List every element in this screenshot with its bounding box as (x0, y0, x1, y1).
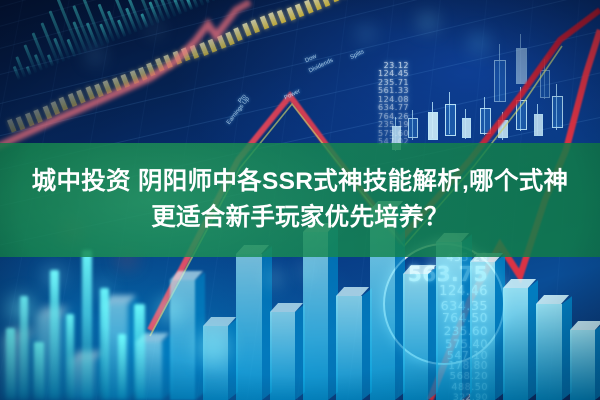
bar-face (503, 288, 528, 400)
dash-tick (251, 19, 261, 33)
title-line-2: 更适合新手玩家优先培养？ (151, 200, 449, 236)
dash-tick (208, 39, 218, 53)
title-block: 城中投资 阴阳师中各SSR式神技能解析,哪个式神 更适合新手玩家优先培养？ (0, 143, 600, 257)
candlestick (462, 118, 469, 136)
candle-body (480, 108, 491, 134)
dash-tick (190, 45, 200, 59)
candlestick (516, 48, 525, 82)
candlestick (408, 118, 416, 136)
bokeh-blob (470, 34, 488, 52)
glow-bar (6, 328, 15, 400)
bar-chart-bar (270, 312, 295, 400)
dash-tick (268, 12, 278, 26)
dash-tick (242, 23, 252, 37)
dash-tick (25, 113, 35, 127)
bar-face (470, 262, 495, 400)
bokeh-blob (420, 14, 436, 30)
dash-tick (304, 0, 314, 14)
stock-market-banner: 23.12124.45235.71561.33124.08634.77764.2… (0, 0, 600, 400)
bar-face (536, 304, 561, 400)
dash-tick (59, 97, 69, 111)
dash-tick (42, 106, 52, 120)
bar-chart-bar (403, 274, 428, 400)
dash-tick (313, 0, 323, 11)
bokeh-blob (160, 300, 180, 320)
bar-chart-bar (470, 262, 495, 400)
bar-face (336, 296, 361, 400)
candlestick (552, 96, 561, 126)
candle-body (445, 104, 456, 136)
candle-body (552, 96, 563, 128)
bokeh-blob (360, 28, 372, 40)
dash-tick (94, 83, 104, 97)
dash-tick (51, 101, 61, 115)
number-stream-left: 23.12124.45235.71561.33124.08634.77764.2… (378, 62, 409, 147)
candle-body (498, 120, 508, 138)
dash-tick (277, 9, 287, 23)
dash-tick (199, 42, 209, 56)
glow-bar (82, 250, 92, 400)
dash-tick (85, 86, 95, 100)
title-line-1: 城中投资 阴阳师中各SSR式神技能解析,哪个式神 (32, 164, 569, 200)
dash-tick (295, 4, 305, 18)
bar-chart-bar (336, 296, 361, 400)
dash-tick (129, 71, 139, 85)
dash-tick (217, 36, 227, 50)
candlestick (516, 100, 525, 128)
dash-tick (34, 109, 44, 123)
dash-tick (225, 32, 235, 46)
dash-tick (163, 54, 173, 68)
dash-tick (138, 66, 148, 80)
dash-tick (16, 116, 26, 130)
dash-tick (259, 15, 269, 29)
dash-tick (146, 62, 156, 76)
dash-tick (112, 78, 122, 92)
bokeh-blob (196, 330, 230, 364)
dash-tick (76, 89, 86, 103)
candle-body (540, 70, 550, 98)
bar-chart-bar (303, 232, 328, 400)
dash-tick (329, 0, 339, 2)
candlestick (445, 104, 454, 134)
bar-face (170, 280, 195, 400)
bar-chart-bar (236, 254, 261, 400)
candle-body (428, 112, 438, 140)
bokeh-blob (300, 266, 310, 276)
dash-tick (155, 58, 165, 72)
dash-tick (286, 6, 296, 20)
dash-tick (321, 0, 331, 6)
glow-bar (34, 342, 44, 400)
bar-chart-bar (503, 288, 528, 400)
candlestick (480, 108, 489, 132)
histogram-bar (186, 0, 193, 10)
bar-face (570, 330, 595, 400)
glow-bar (50, 270, 59, 400)
glow-bar (100, 288, 109, 400)
bar-chart-bar (536, 304, 561, 400)
bar-chart-bar (170, 280, 195, 400)
candle-body (462, 118, 471, 138)
candlestick (540, 70, 548, 96)
bokeh-blob (268, 272, 280, 284)
candle-body (534, 114, 543, 136)
dash-tick (234, 27, 244, 41)
bar-face (403, 274, 428, 400)
candle-body (516, 100, 527, 130)
glow-bar (66, 314, 74, 400)
bar-face (270, 312, 295, 400)
candle-body (516, 48, 527, 84)
bokeh-blob (150, 24, 160, 34)
glow-bar (134, 304, 145, 400)
bar-face (236, 254, 261, 400)
candlestick (534, 114, 541, 134)
candlestick (494, 60, 504, 100)
dash-tick (172, 51, 182, 65)
bokeh-blob (46, 268, 62, 284)
bar-side (595, 322, 600, 400)
dash-tick (103, 80, 113, 94)
histogram-bar (26, 66, 32, 75)
candlestick (428, 112, 436, 138)
bokeh-blob (8, 296, 34, 322)
dash-tick (121, 74, 131, 88)
bokeh-blob (96, 282, 110, 296)
bar-chart-bar (570, 330, 595, 400)
dash-tick (181, 48, 191, 62)
dash-tick (68, 93, 78, 107)
glow-bar (118, 334, 126, 400)
bokeh-blob (88, 48, 102, 62)
bar-face (436, 242, 461, 400)
candle-body (408, 118, 418, 138)
bar-chart-bar (436, 242, 461, 400)
bar-face (303, 232, 328, 400)
candlestick (498, 120, 506, 136)
candle-body (494, 60, 506, 102)
